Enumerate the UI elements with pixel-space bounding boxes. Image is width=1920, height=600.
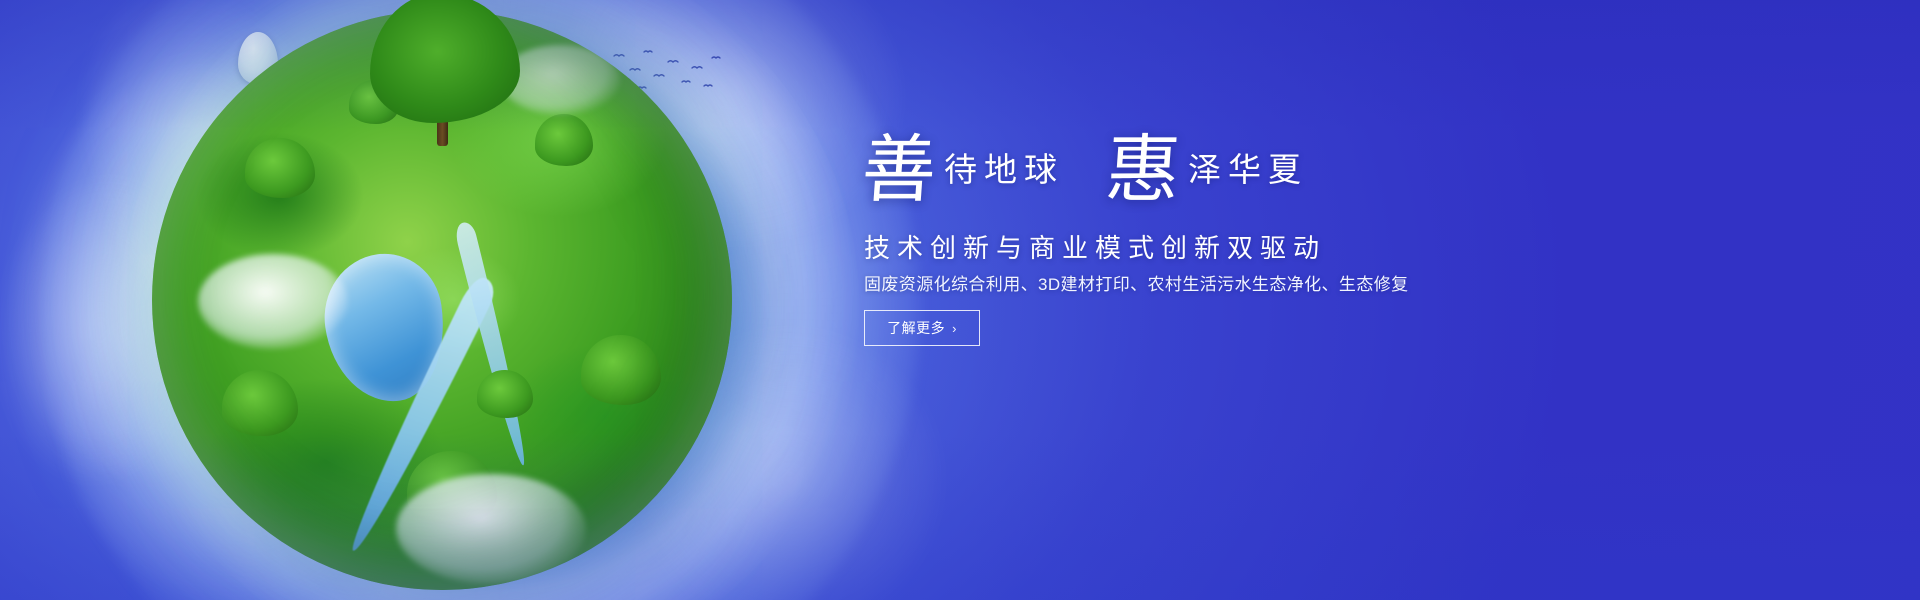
chevron-right-icon: › bbox=[952, 322, 957, 335]
learn-more-button[interactable]: 了解更多 › bbox=[864, 310, 980, 346]
hero-subtitle: 技术创新与商业模式创新双驱动 bbox=[864, 228, 1326, 265]
hero-banner: 善 待地球 惠 泽华夏 技术创新与商业模式创新双驱动 固废资源化综合利用、3D建… bbox=[0, 0, 1920, 600]
headline-rest-chars-2: 泽华夏 bbox=[1188, 155, 1308, 188]
headline-phrase-2: 惠 泽华夏 bbox=[1106, 133, 1308, 207]
headline-accent-char-2: 惠 bbox=[1103, 133, 1182, 207]
hero-description: 固废资源化综合利用、3D建材打印、农村生活污水生态净化、生态修复 bbox=[864, 270, 1409, 295]
headline-phrase-1: 善 待地球 bbox=[862, 133, 1064, 207]
learn-more-label: 了解更多 bbox=[887, 318, 945, 338]
hero-headline: 善 待地球 惠 泽华夏 bbox=[862, 133, 1308, 207]
planet-tree-canopy bbox=[370, 0, 520, 123]
hero-content: 善 待地球 惠 泽华夏 技术创新与商业模式创新双驱动 固废资源化综合利用、3D建… bbox=[862, 0, 1862, 600]
headline-rest-chars-1: 待地球 bbox=[944, 155, 1064, 188]
headline-accent-char-1: 善 bbox=[859, 133, 938, 207]
